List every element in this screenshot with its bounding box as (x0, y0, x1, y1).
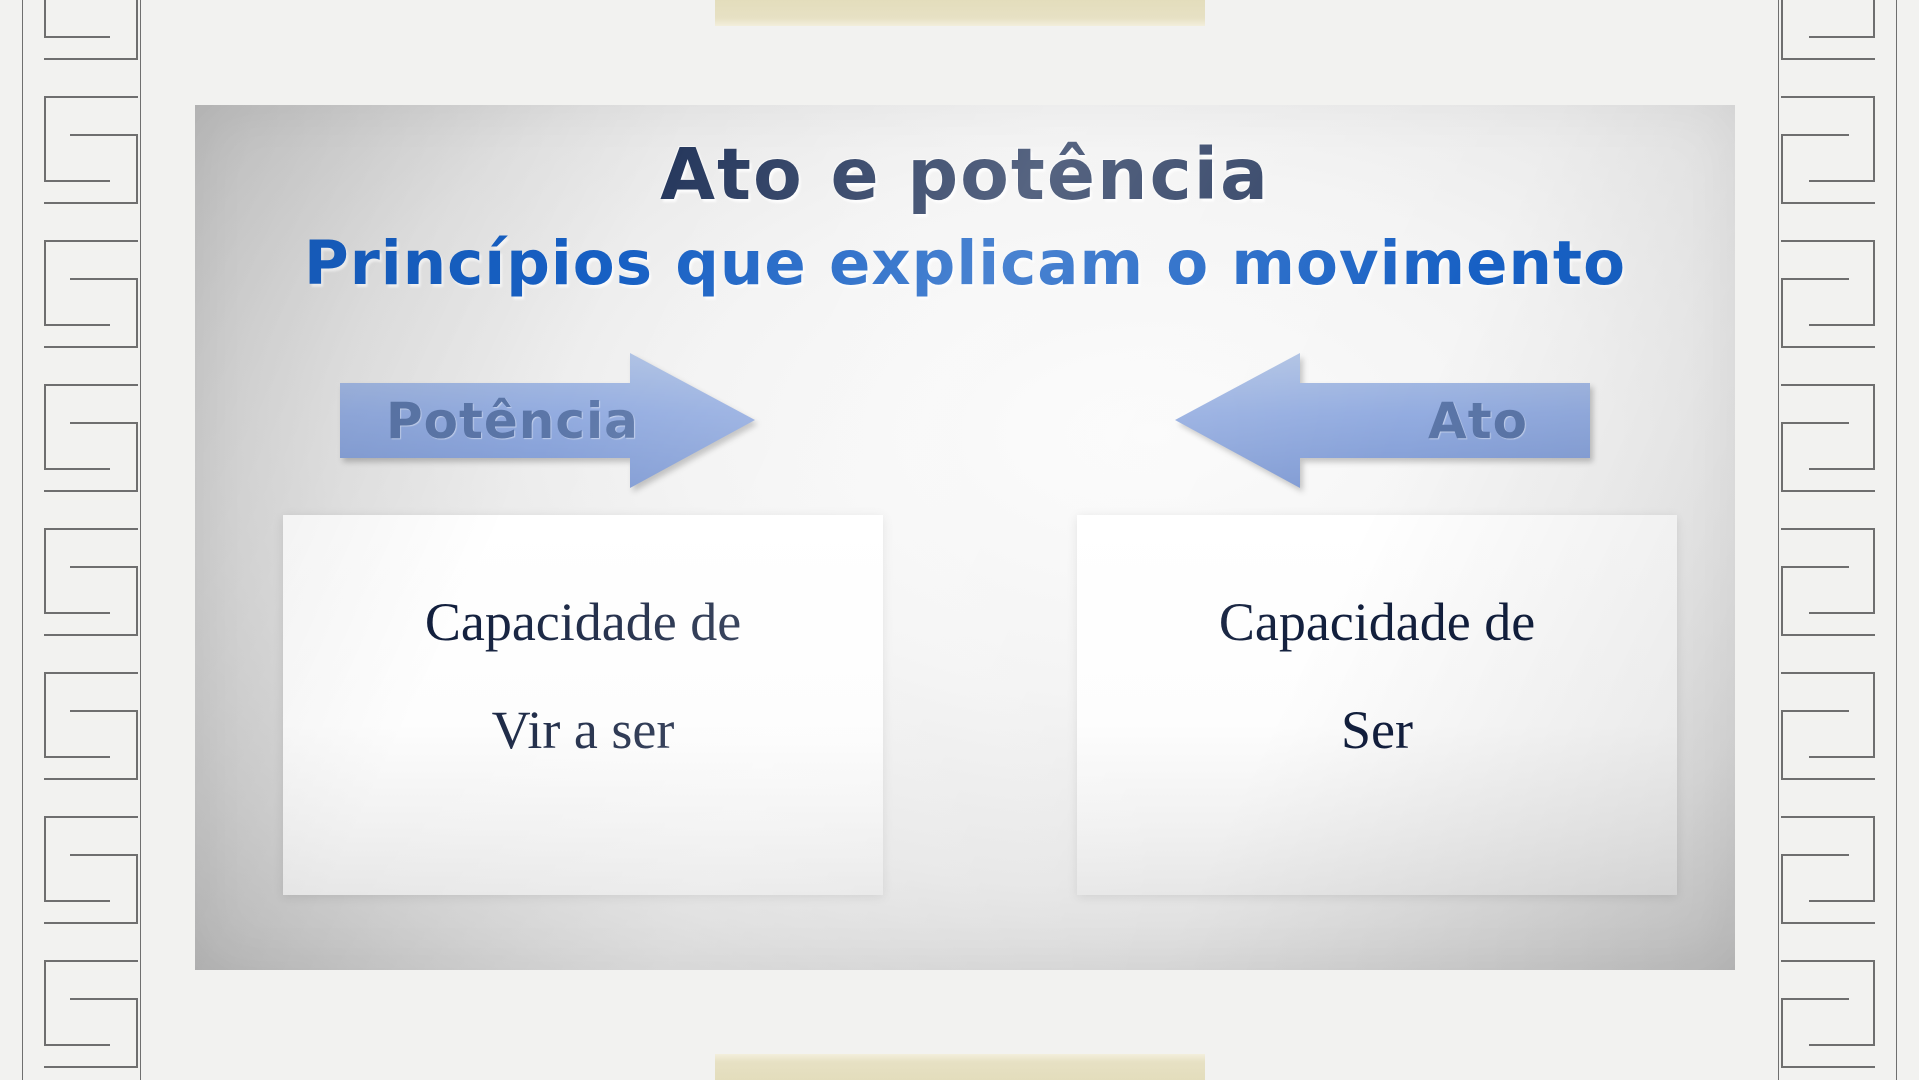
box-potencia-line1: Capacidade de (425, 595, 741, 649)
meander-glyph (18, 84, 148, 228)
box-ato: Capacidade de Ser (1077, 515, 1677, 895)
slide-subtitle: Princípios que explicam o movimento (195, 228, 1735, 299)
meander-glyph (1771, 84, 1901, 228)
slide-title: Ato e potência (195, 133, 1735, 216)
meander-glyph (18, 228, 148, 372)
slide-image: Ato e potência Princípios que explicam o… (195, 105, 1735, 970)
meander-glyph (1771, 948, 1901, 1080)
meander-glyph (18, 0, 148, 84)
meander-glyph (1771, 804, 1901, 948)
meander-glyph (1771, 516, 1901, 660)
meander-glyph (18, 804, 148, 948)
meander-glyph (18, 372, 148, 516)
box-potencia: Capacidade de Vir a ser (283, 515, 883, 895)
meander-glyph (18, 660, 148, 804)
meander-glyph (18, 948, 148, 1080)
arrow-ato-label: Ato (1428, 353, 1528, 488)
meander-glyph (1771, 660, 1901, 804)
bottom-beige-tab (715, 1054, 1205, 1080)
arrow-potencia-label: Potência (386, 353, 639, 488)
arrow-ato: Ato (1175, 353, 1590, 488)
top-beige-tab (715, 0, 1205, 26)
box-ato-line2: Ser (1341, 703, 1413, 757)
box-potencia-line2: Vir a ser (492, 703, 675, 757)
box-ato-line1: Capacidade de (1219, 595, 1535, 649)
right-meander-stack (1771, 0, 1901, 1080)
meander-glyph (1771, 0, 1901, 84)
meander-glyph (1771, 228, 1901, 372)
arrow-potencia: Potência (340, 353, 755, 488)
left-meander-stack (18, 0, 148, 1080)
meander-glyph (18, 516, 148, 660)
right-greek-key-border (1771, 0, 1901, 1080)
meander-glyph (1771, 372, 1901, 516)
left-greek-key-border (18, 0, 148, 1080)
